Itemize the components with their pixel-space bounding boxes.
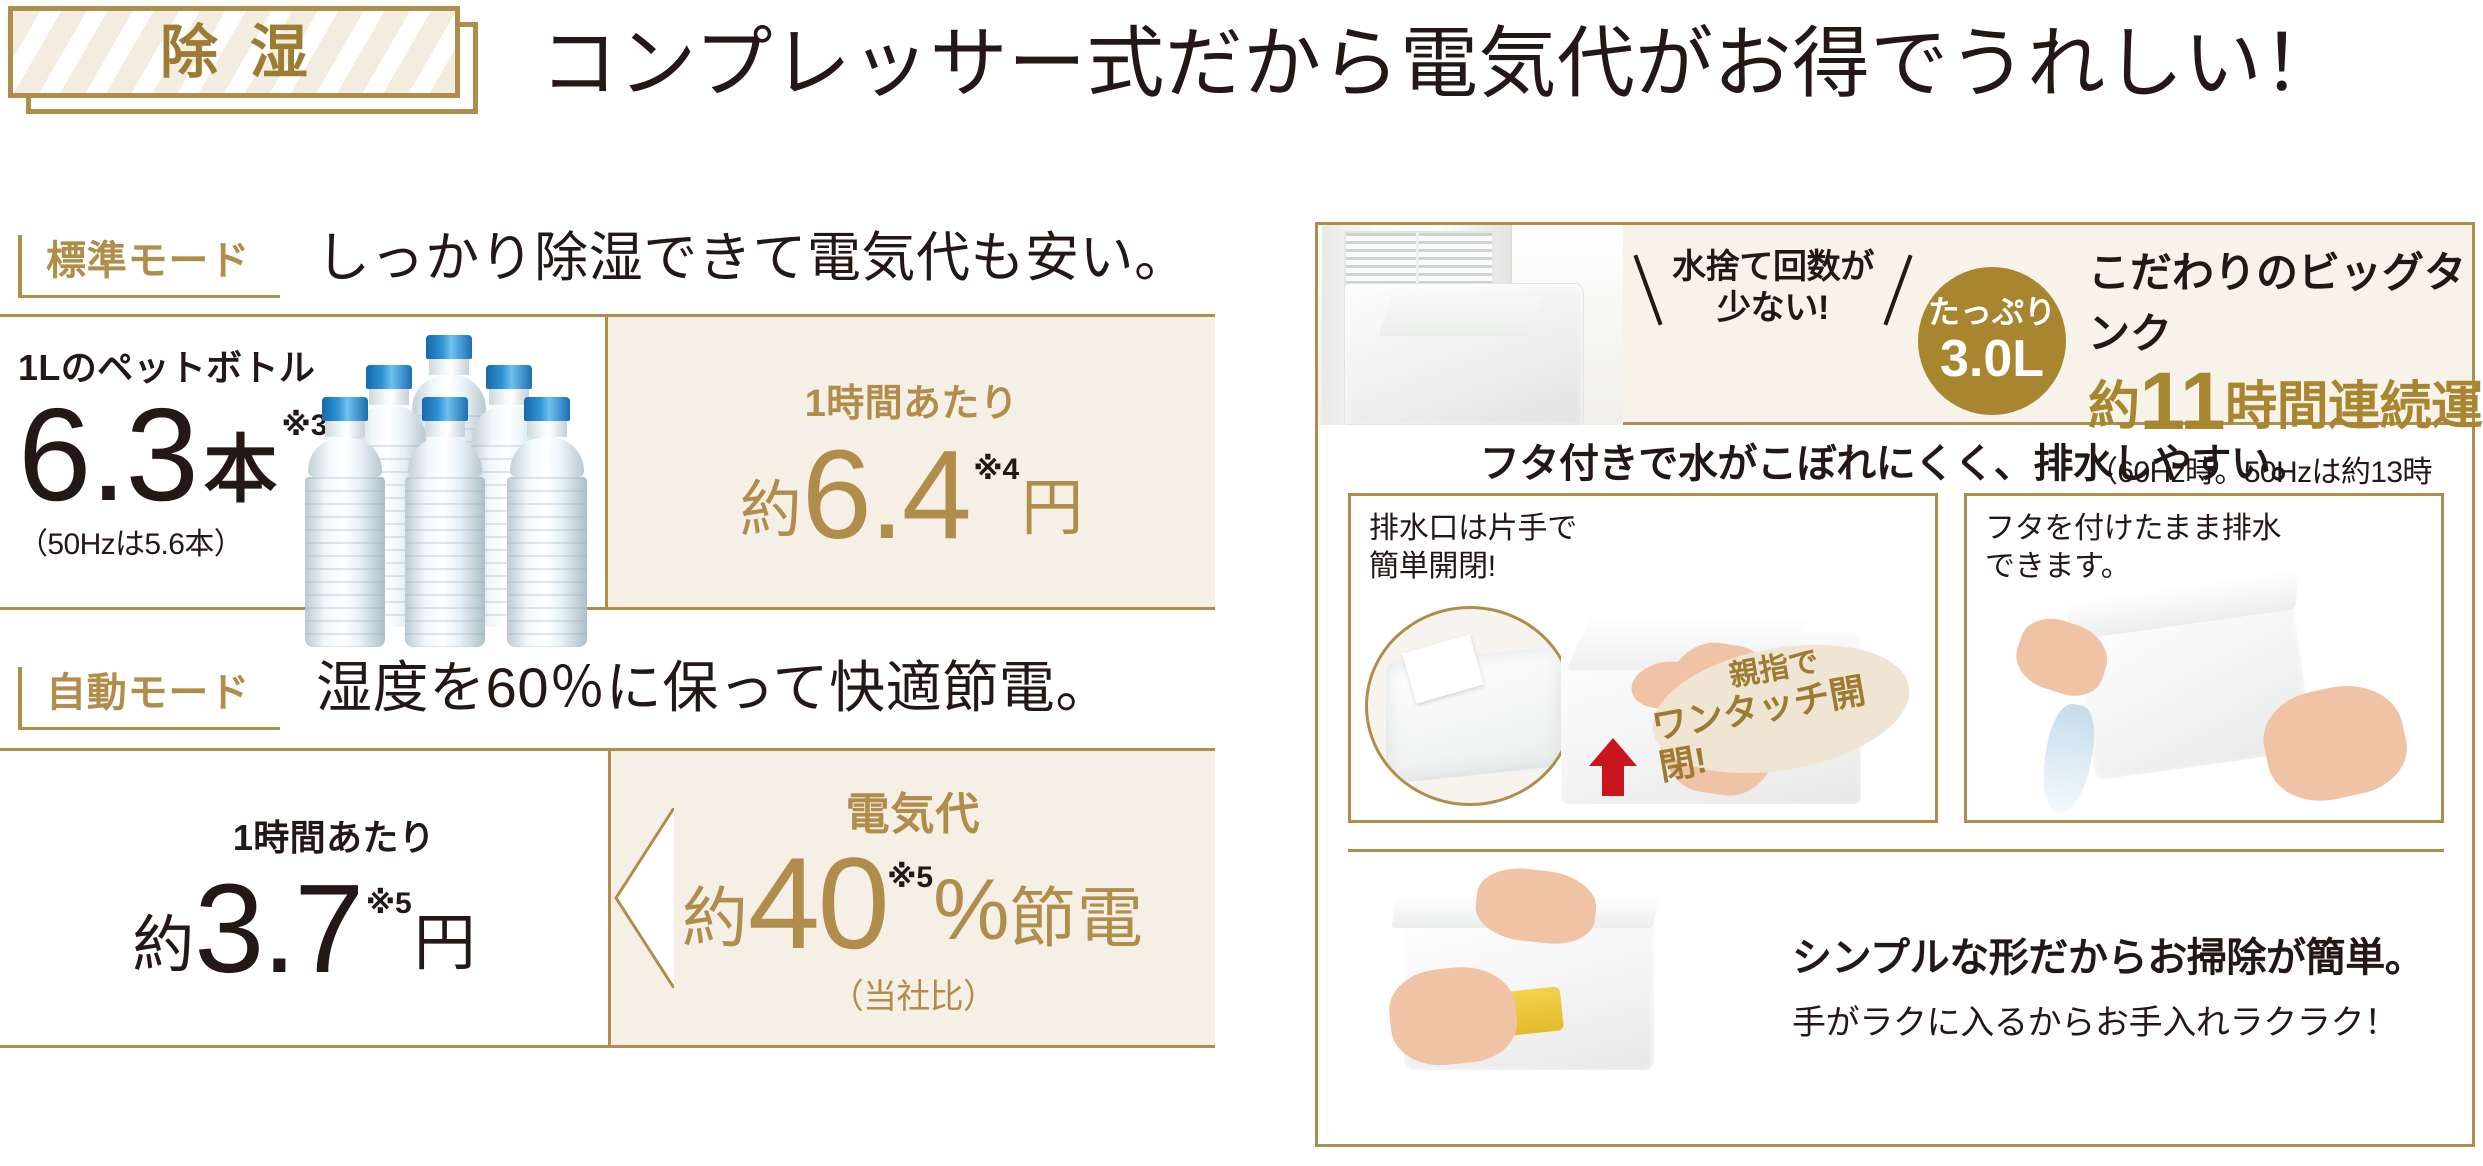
tank-capacity-value: 3.0L: [1940, 332, 2044, 387]
bottle-item: [303, 397, 387, 647]
drain-with-lid-card-text: フタを付けたまま排水 できます。: [1967, 496, 2441, 587]
hourly-cost-unit: 円: [1021, 478, 1083, 552]
tank-runtime-value: 11: [2139, 365, 2225, 439]
page-header: 除湿 コンプレッサー式だから電気代がお得でうれしい！: [0, 0, 2483, 135]
page-title: コンプレッサー式だから電気代がお得でうれしい！: [540, 2, 2480, 112]
drain-port-line2: 簡単開閉!: [1369, 548, 1935, 586]
standard-mode-lead: しっかり除湿できて電気代も安い。: [316, 213, 1189, 298]
hourly-cost-value: 6.4: [802, 437, 970, 553]
auto-cost-value: 3.7: [194, 871, 362, 987]
tank-runtime-prefix: 約: [2088, 380, 2139, 439]
bottle-cap-icon: [486, 365, 532, 389]
bottle-cap-icon: [422, 397, 468, 421]
cleaning-copy: シンプルな形だからお掃除が簡単。 手がラクに入るからお手入れラクラク！: [1792, 925, 2424, 1044]
bottle-cap-icon: [426, 335, 472, 359]
bottle-body: [507, 477, 587, 647]
bottle-neck: [429, 359, 469, 375]
hourly-cost-label: 1時間あたり: [805, 372, 1018, 427]
hourly-cost-footnote-marker: ※4: [973, 455, 1019, 485]
water-disposal-note-line1: 水捨て回数が: [1638, 247, 1908, 288]
arrow-shaft: [1602, 762, 1624, 796]
bottle-cap-icon: [366, 365, 412, 389]
standard-mode-tag: 標準モード: [18, 235, 280, 298]
tank-capacity-badge: たっぷり 3.0L: [1918, 267, 2066, 415]
drain-port-card: 排水口は片手で 簡単開閉! 親指で ワ: [1348, 493, 1938, 823]
bottle-shoulder: [308, 437, 382, 477]
bottle-value: 6.3: [18, 393, 198, 517]
tank-runtime-row: 約 11 時間連続運転OK。: [2088, 365, 2468, 439]
drain-port-closeup: [1365, 606, 1575, 806]
auto-mode-lead: 湿度を60％に保って快適節電。: [316, 643, 1112, 730]
bottle-neck: [425, 421, 465, 437]
cleaning-subtitle: 手がラクに入るからお手入れラクラク！: [1792, 995, 2424, 1044]
cleaning-photo: [1348, 870, 1768, 1100]
bottle-cap-icon: [322, 397, 368, 421]
drain-with-lid-card: フタを付けたまま排水 できます。: [1964, 493, 2444, 823]
promo-page: 除湿 コンプレッサー式だから電気代がお得でうれしい！ 標準モード しっかり除湿で…: [0, 0, 2483, 1166]
saving-sub-note: （当社比）: [830, 969, 997, 1018]
bottle-stat-cell: 1Lのペットボトル 6.3 本 ※3 （50Hzは5.6本）: [0, 317, 608, 607]
bottle-item: [403, 397, 487, 647]
saving-row: 約 40 ※5 % 節電: [682, 844, 1144, 964]
saving-footnote-marker: ※5: [887, 860, 933, 895]
drain-port-photo: 親指で ワンタッチ開閉!: [1365, 588, 1925, 820]
saving-value: 40: [748, 844, 887, 964]
saving-percent-sign: %: [933, 867, 1009, 963]
water-disposal-note-line2: 少ない!: [1638, 288, 1908, 329]
auto-mode-stats: 1時間あたり 約 3.7 ※5 円 電気代 約: [0, 748, 1215, 1048]
drain-port-line1: 排水口は片手で: [1369, 510, 1935, 548]
bottle-body: [405, 477, 485, 647]
badge-frame: 除湿: [8, 6, 460, 98]
lid-feature-title: フタ付きで水がこぼれにくく、排水しやすい。: [1318, 431, 2472, 489]
tank-headline: こだわりのビッグタンク: [2088, 239, 2468, 361]
drain-port-card-text: 排水口は片手で 簡単開閉!: [1351, 496, 1935, 587]
auto-hourly-cost-row: 約 3.7 ※5 円: [132, 871, 476, 987]
arrow-head: [1589, 738, 1637, 766]
auto-mode-tag: 自動モード: [18, 667, 280, 730]
drain-with-lid-photo: [1987, 592, 2427, 816]
lid-feature-cards: 排水口は片手で 簡単開閉! 親指で ワ: [1348, 493, 2444, 823]
cleaning-title: シンプルな形だからお掃除が簡単。: [1792, 925, 2424, 983]
standard-mode-heading: 標準モード しっかり除湿できて電気代も安い。: [0, 200, 1215, 298]
auto-cost-unit: 円: [414, 913, 476, 987]
water-disposal-note: 水捨て回数が 少ない!: [1638, 247, 1908, 330]
auto-cost-footnote-marker: ※5: [366, 889, 412, 919]
saving-prefix: 約: [682, 885, 748, 963]
tank-copy: こだわりのビッグタンク 約 11 時間連続運転OK。 （60Hz時。50Hzは約…: [2088, 239, 2468, 535]
bottle-shoulder: [408, 437, 482, 477]
tank-hero: 水捨て回数が 少ない! たっぷり 3.0L こだわりのビッグタンク 約 11 時…: [1318, 225, 2472, 425]
bottle-body: [305, 477, 385, 647]
water-tank-photo: [1344, 283, 1584, 425]
bottle-illustration: [299, 335, 599, 607]
bottle-unit: 本: [204, 433, 278, 517]
standard-mode-stats: 1Lのペットボトル 6.3 本 ※3 （50Hzは5.6本）: [0, 314, 1215, 610]
water-stream: [2036, 701, 2100, 817]
tank-feature-panel: 水捨て回数が 少ない! たっぷり 3.0L こだわりのビッグタンク 約 11 時…: [1315, 222, 2475, 1147]
saving-cell: 電気代 約 40 ※5 % 節電 （当社比）: [608, 751, 1215, 1045]
auto-mode-heading: 自動モード 湿度を60％に保って快適節電。: [0, 632, 1215, 730]
bottle-shoulder: [510, 437, 584, 477]
auto-cost-prefix: 約: [132, 915, 194, 987]
hourly-cost-prefix: 約: [740, 480, 802, 552]
bottle-cap-icon: [524, 397, 570, 421]
dehumidifier-photo: [1318, 225, 1623, 425]
bottle-neck: [325, 421, 365, 437]
cleaning-feature-row: シンプルな形だからお掃除が簡単。 手がラクに入るからお手入れラクラク！: [1348, 849, 2444, 1117]
bottle-item: [505, 397, 589, 647]
tank-capacity-top: たっぷり: [1928, 296, 2056, 330]
tank-runtime-word: 時間連続運転OK。: [2225, 380, 2483, 439]
auto-hourly-cost-cell: 1時間あたり 約 3.7 ※5 円: [0, 751, 608, 1045]
badge-label: 除湿: [128, 23, 340, 81]
hourly-cost-cell: 1時間あたり 約 6.4 ※4 円: [608, 317, 1215, 607]
saving-word: 節電: [1010, 885, 1145, 963]
bottle-neck: [527, 421, 567, 437]
auto-hourly-cost-label: 1時間あたり: [233, 809, 435, 861]
drain-with-lid-line1: フタを付けたまま排水: [1985, 510, 2441, 548]
hourly-cost-row: 約 6.4 ※4 円: [740, 437, 1084, 553]
arrow-notch: [608, 808, 674, 988]
left-column: 標準モード しっかり除湿できて電気代も安い。 1Lのペットボトル 6.3 本 ※…: [0, 200, 1215, 1160]
section-badge: 除湿: [8, 6, 478, 114]
